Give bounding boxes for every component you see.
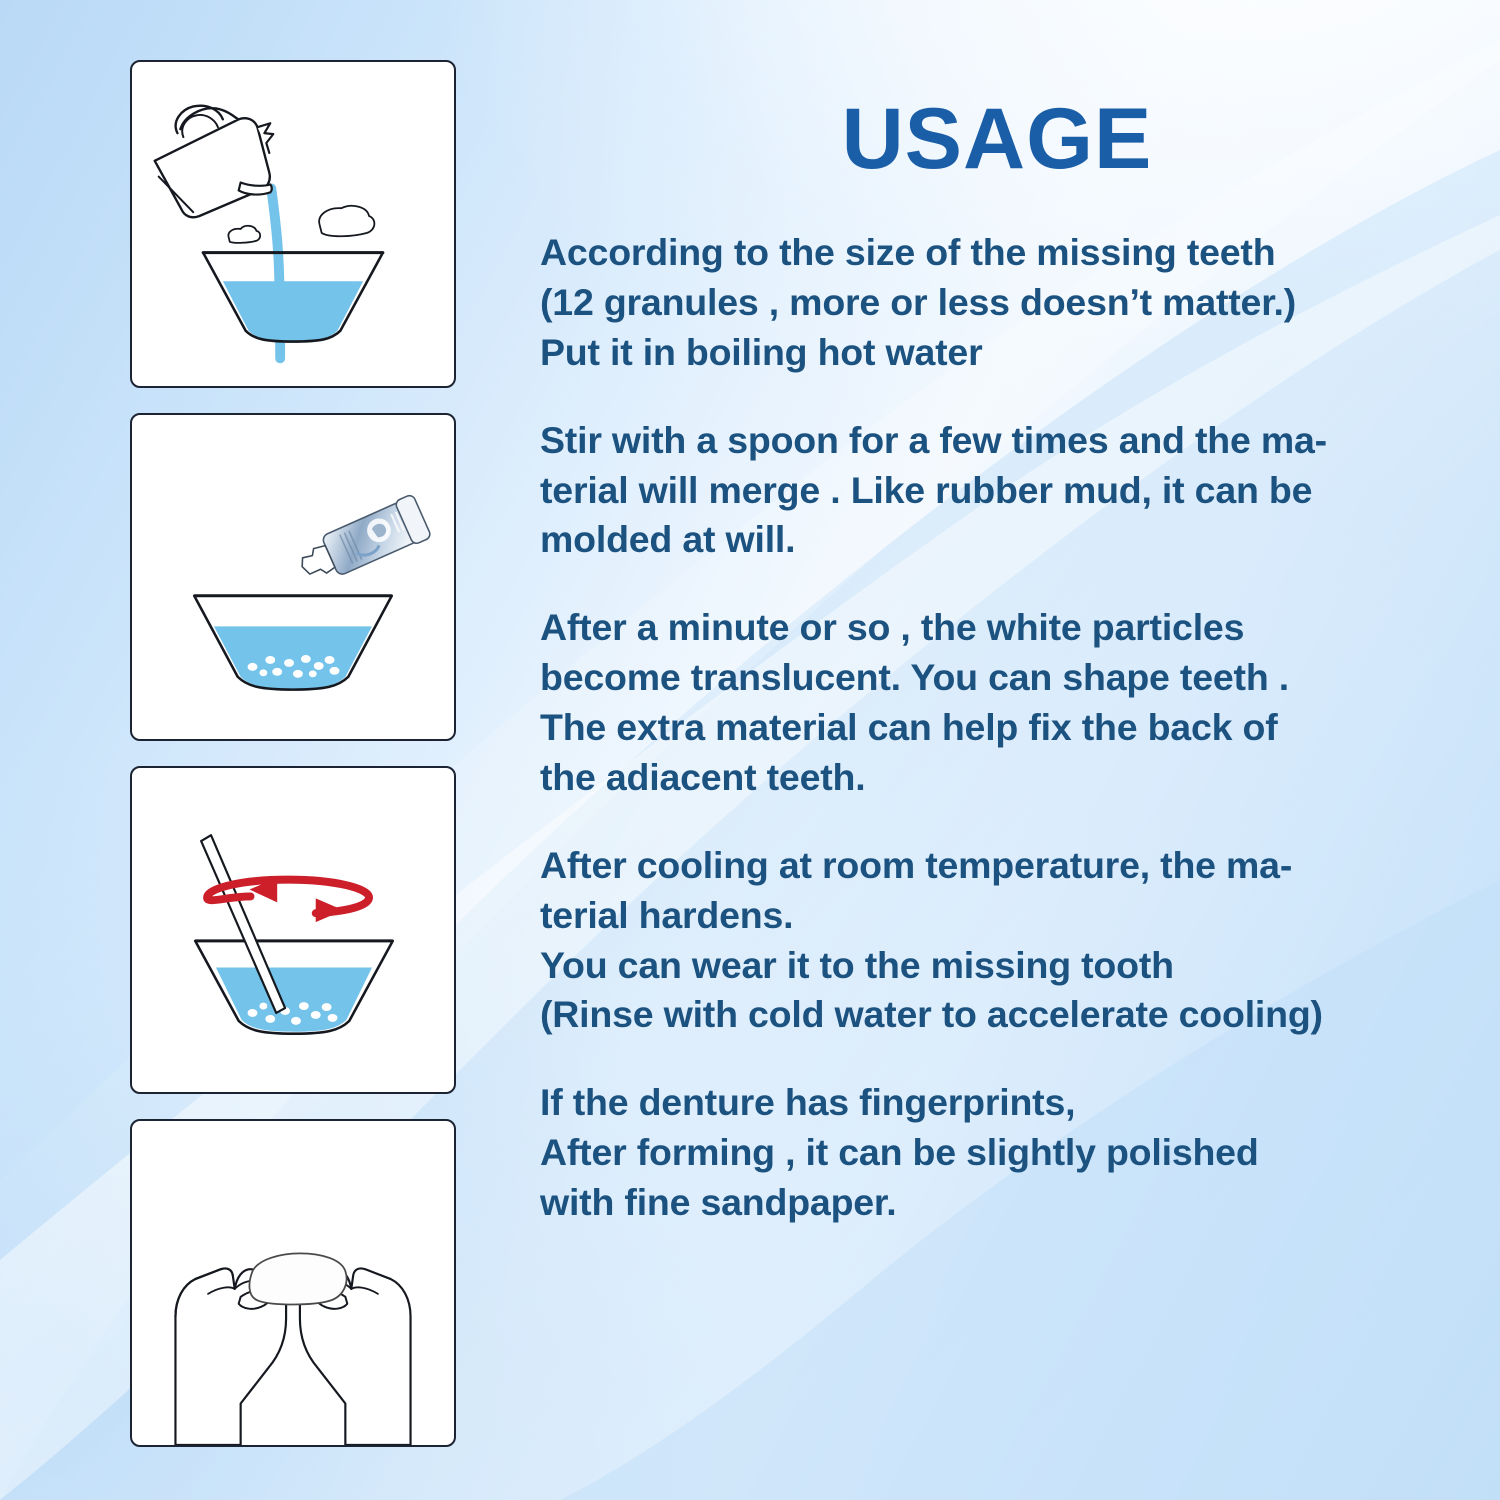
paragraph-line: become translucent. You can shape teeth … bbox=[540, 653, 1430, 703]
paragraph-line: with fine sandpaper. bbox=[540, 1178, 1430, 1228]
paragraph-line: molded at will. bbox=[540, 515, 1430, 565]
paragraph-line: (Rinse with cold water to accelerate coo… bbox=[540, 990, 1430, 1040]
paragraph-line: According to the size of the missing tee… bbox=[540, 228, 1430, 278]
panel-kettle-pouring-water-into-bowl bbox=[130, 60, 456, 388]
paragraph-line: the adiacent teeth. bbox=[540, 753, 1430, 803]
illustration-panel-column bbox=[130, 60, 456, 1447]
paragraph-line: If the denture has fingerprints, bbox=[540, 1078, 1430, 1128]
usage-poster: USAGE According to the size of the missi… bbox=[0, 0, 1500, 1500]
paragraph-line: The extra material can help fix the back… bbox=[540, 703, 1430, 753]
panel-spoon-stirring-bowl bbox=[130, 766, 456, 1094]
kettle-pour-illustration bbox=[132, 62, 454, 386]
stirring-illustration bbox=[132, 768, 454, 1092]
paragraph-line: After a minute or so , the white particl… bbox=[540, 603, 1430, 653]
paragraph-step-3: After a minute or so , the white particl… bbox=[540, 603, 1430, 803]
hands-molding-illustration bbox=[132, 1121, 454, 1445]
paragraph-line: After cooling at room temperature, the m… bbox=[540, 841, 1430, 891]
paragraph-line: Stir with a spoon for a few times and th… bbox=[540, 416, 1430, 466]
granule-bottle-illustration bbox=[132, 415, 454, 739]
paragraph-line: You can wear it to the missing tooth bbox=[540, 941, 1430, 991]
paragraph-line: terial hardens. bbox=[540, 891, 1430, 941]
panel-hands-molding-material bbox=[130, 1119, 456, 1447]
paragraph-line: Put it in boiling hot water bbox=[540, 328, 1430, 378]
paragraph-step-2: Stir with a spoon for a few times and th… bbox=[540, 416, 1430, 566]
paragraph-line: terial will merge . Like rubber mud, it … bbox=[540, 466, 1430, 516]
panel-granule-bottle-pouring-into-bowl bbox=[130, 413, 456, 741]
paragraph-step-5: If the denture has fingerprints, After f… bbox=[540, 1078, 1430, 1228]
usage-text-column: USAGE According to the size of the missi… bbox=[540, 96, 1430, 1228]
paragraph-line: (12 granules , more or less doesn’t matt… bbox=[540, 278, 1430, 328]
page-title: USAGE bbox=[540, 96, 1430, 182]
paragraph-step-4: After cooling at room temperature, the m… bbox=[540, 841, 1430, 1041]
paragraph-line: After forming , it can be slightly polis… bbox=[540, 1128, 1430, 1178]
paragraph-step-1: According to the size of the missing tee… bbox=[540, 228, 1430, 378]
